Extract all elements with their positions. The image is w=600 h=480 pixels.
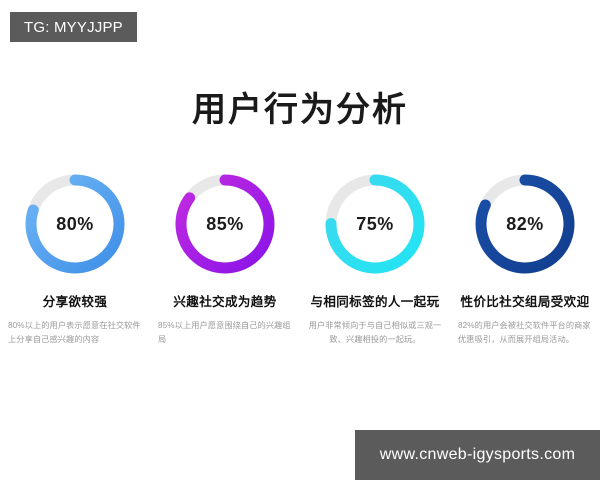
donut-chart-value: 82% — [471, 170, 579, 278]
stats-cards-row: 80% 分享欲较强 80%以上的用户表示愿意在社交软件上分享自己感兴趣的内容 8… — [0, 170, 600, 346]
donut-value-value: 82% — [471, 170, 579, 278]
donut-value-interest: 85% — [171, 170, 279, 278]
stat-card-desc-value: 82%的用户会被社交软件平台的商家优惠吸引，从而展开组局活动。 — [458, 319, 592, 346]
stat-card-title-value: 性价比社交组局受欢迎 — [460, 294, 589, 310]
stat-card-title-tags: 与相同标签的人一起玩 — [310, 294, 439, 310]
watermark-url: www.cnweb-igysports.com — [380, 446, 575, 464]
stat-card-desc-share: 80%以上的用户表示愿意在社交软件上分享自己感兴趣的内容 — [8, 319, 142, 346]
donut-value-tags: 75% — [321, 170, 429, 278]
tg-badge: TG: MYYJJPP — [10, 12, 137, 42]
donut-value-share: 80% — [21, 170, 129, 278]
stat-card-share: 80% 分享欲较强 80%以上的用户表示愿意在社交软件上分享自己感兴趣的内容 — [0, 170, 150, 346]
stat-card-value: 82% 性价比社交组局受欢迎 82%的用户会被社交软件平台的商家优惠吸引，从而展… — [450, 170, 600, 346]
donut-chart-tags: 75% — [321, 170, 429, 278]
donut-chart-share: 80% — [21, 170, 129, 278]
stat-card-desc-interest: 85%以上用户愿意围绕自己的兴趣组局 — [158, 319, 292, 346]
page-title: 用户行为分析 — [0, 92, 600, 129]
stat-card-tags: 75% 与相同标签的人一起玩 用户非常倾向于与自己相似或三观一致、兴趣相投的一起… — [300, 170, 450, 346]
stat-card-title-share: 分享欲较强 — [43, 294, 108, 310]
tg-badge-label: TG: MYYJJPP — [24, 19, 123, 36]
donut-chart-interest: 85% — [171, 170, 279, 278]
stat-card-interest: 85% 兴趣社交成为趋势 85%以上用户愿意围绕自己的兴趣组局 — [150, 170, 300, 346]
stat-card-title-interest: 兴趣社交成为趋势 — [173, 294, 276, 310]
watermark-bar: www.cnweb-igysports.com — [355, 430, 600, 480]
stat-card-desc-tags: 用户非常倾向于与自己相似或三观一致、兴趣相投的一起玩。 — [308, 319, 442, 346]
